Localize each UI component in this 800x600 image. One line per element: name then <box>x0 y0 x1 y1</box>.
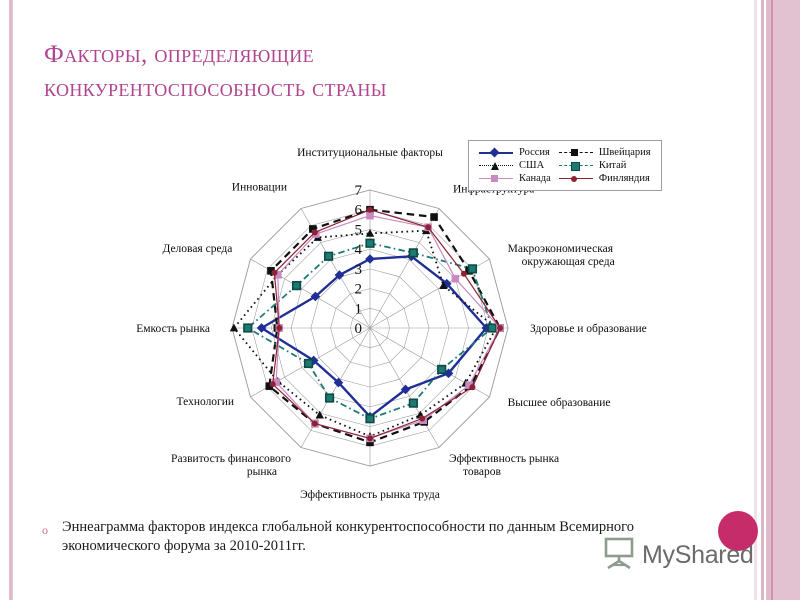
slide-left-border <box>9 0 13 600</box>
legend-label: Швейцария <box>597 146 655 159</box>
page-title-line-2: конкурентоспособность страны <box>44 72 564 106</box>
slide-caption: o Эннеаграмма факторов индекса глобально… <box>62 518 662 556</box>
legend-key <box>555 146 597 159</box>
legend-row: СШАКитай <box>475 159 655 172</box>
radial-tick-label: 2 <box>355 282 363 298</box>
series-point <box>305 360 313 368</box>
caption-text: Эннеаграмма факторов индекса глобальной … <box>62 519 634 554</box>
series-point <box>366 239 374 247</box>
series-point <box>293 282 301 290</box>
radial-tick-label: 5 <box>355 222 363 238</box>
legend-table: РоссияШвейцарияСШАКитайКанадаФинляндия <box>475 146 655 185</box>
series-point <box>438 366 446 374</box>
series-line <box>269 210 500 443</box>
series-point <box>366 212 374 220</box>
series-point <box>367 435 373 441</box>
series-point <box>365 254 375 264</box>
radial-tick-label: 7 <box>355 183 363 199</box>
radial-tick-label: 4 <box>355 242 363 258</box>
series-point <box>461 271 467 277</box>
series-point <box>230 324 238 332</box>
chart-legend: РоссияШвейцарияСШАКитайКанадаФинляндия <box>468 140 662 191</box>
series-point <box>410 399 418 407</box>
radar-category-labels: Институциональные факторыИнфраструктураМ… <box>136 147 647 501</box>
legend-key <box>555 159 597 172</box>
series-point <box>430 213 438 221</box>
legend-label: США <box>517 159 555 172</box>
watermark-text: MyShared <box>642 541 754 570</box>
legend-label: Китай <box>597 159 655 172</box>
series-point <box>469 384 475 390</box>
legend-key <box>475 159 517 172</box>
radial-tick-label: 0 <box>355 321 363 337</box>
series-point <box>469 265 477 273</box>
series-point <box>366 415 374 423</box>
radar-chart-svg: 01234567 Институциональные факторыИнфрас… <box>120 135 680 510</box>
series-point <box>325 252 333 260</box>
radar-chart: 01234567 Институциональные факторыИнфрас… <box>120 135 680 510</box>
category-label: Здоровье и образование <box>530 323 647 335</box>
series-point <box>276 325 282 331</box>
series-point <box>270 381 276 387</box>
legend-key <box>475 172 517 185</box>
legend-key <box>475 146 517 159</box>
series-point <box>410 249 418 257</box>
category-label: Институциональные факторы <box>297 147 443 159</box>
legend-row: РоссияШвейцария <box>475 146 655 159</box>
category-label: Деловая среда <box>162 243 232 255</box>
legend-key <box>555 172 597 185</box>
series-point <box>312 421 318 427</box>
page-title-line-1: Факторы, определяющие <box>44 38 564 72</box>
series-point <box>497 325 503 331</box>
radial-tick-label: 1 <box>355 301 363 317</box>
radial-tick-label: 6 <box>355 203 363 219</box>
series-point <box>271 270 277 276</box>
series-point <box>419 415 425 421</box>
series-point <box>312 229 318 235</box>
radial-tick-label: 3 <box>355 262 363 278</box>
legend-label: Канада <box>517 172 555 185</box>
category-label: Высшее образование <box>508 397 611 409</box>
series-line <box>276 216 500 439</box>
series-point <box>244 324 252 332</box>
category-label: Технологии <box>177 396 235 408</box>
category-label: Эффективность рынкатоваров <box>449 453 559 478</box>
category-label: Инновации <box>232 182 287 194</box>
category-label: Емкость рынка <box>136 323 210 335</box>
series-point <box>488 324 496 332</box>
category-label: Развитость финансовогорынка <box>171 453 291 478</box>
category-label: Макроэкономическаяокружающая среда <box>508 243 615 268</box>
legend-label: Россия <box>517 146 555 159</box>
projector-screen-icon <box>602 537 636 569</box>
radar-rtick-labels: 01234567 <box>355 183 363 337</box>
legend-row: КанадаФинляндия <box>475 172 655 185</box>
legend-label: Финляндия <box>597 172 655 185</box>
category-label: Эффективность рынка труда <box>300 489 440 501</box>
series-point <box>452 275 460 283</box>
series-point <box>425 224 431 230</box>
slide-right-border <box>754 0 800 600</box>
page-title: Факторы, определяющие конкурентоспособно… <box>44 38 564 106</box>
caption-bullet-icon: o <box>42 521 48 540</box>
series-point <box>367 207 373 213</box>
series-point <box>326 394 334 402</box>
